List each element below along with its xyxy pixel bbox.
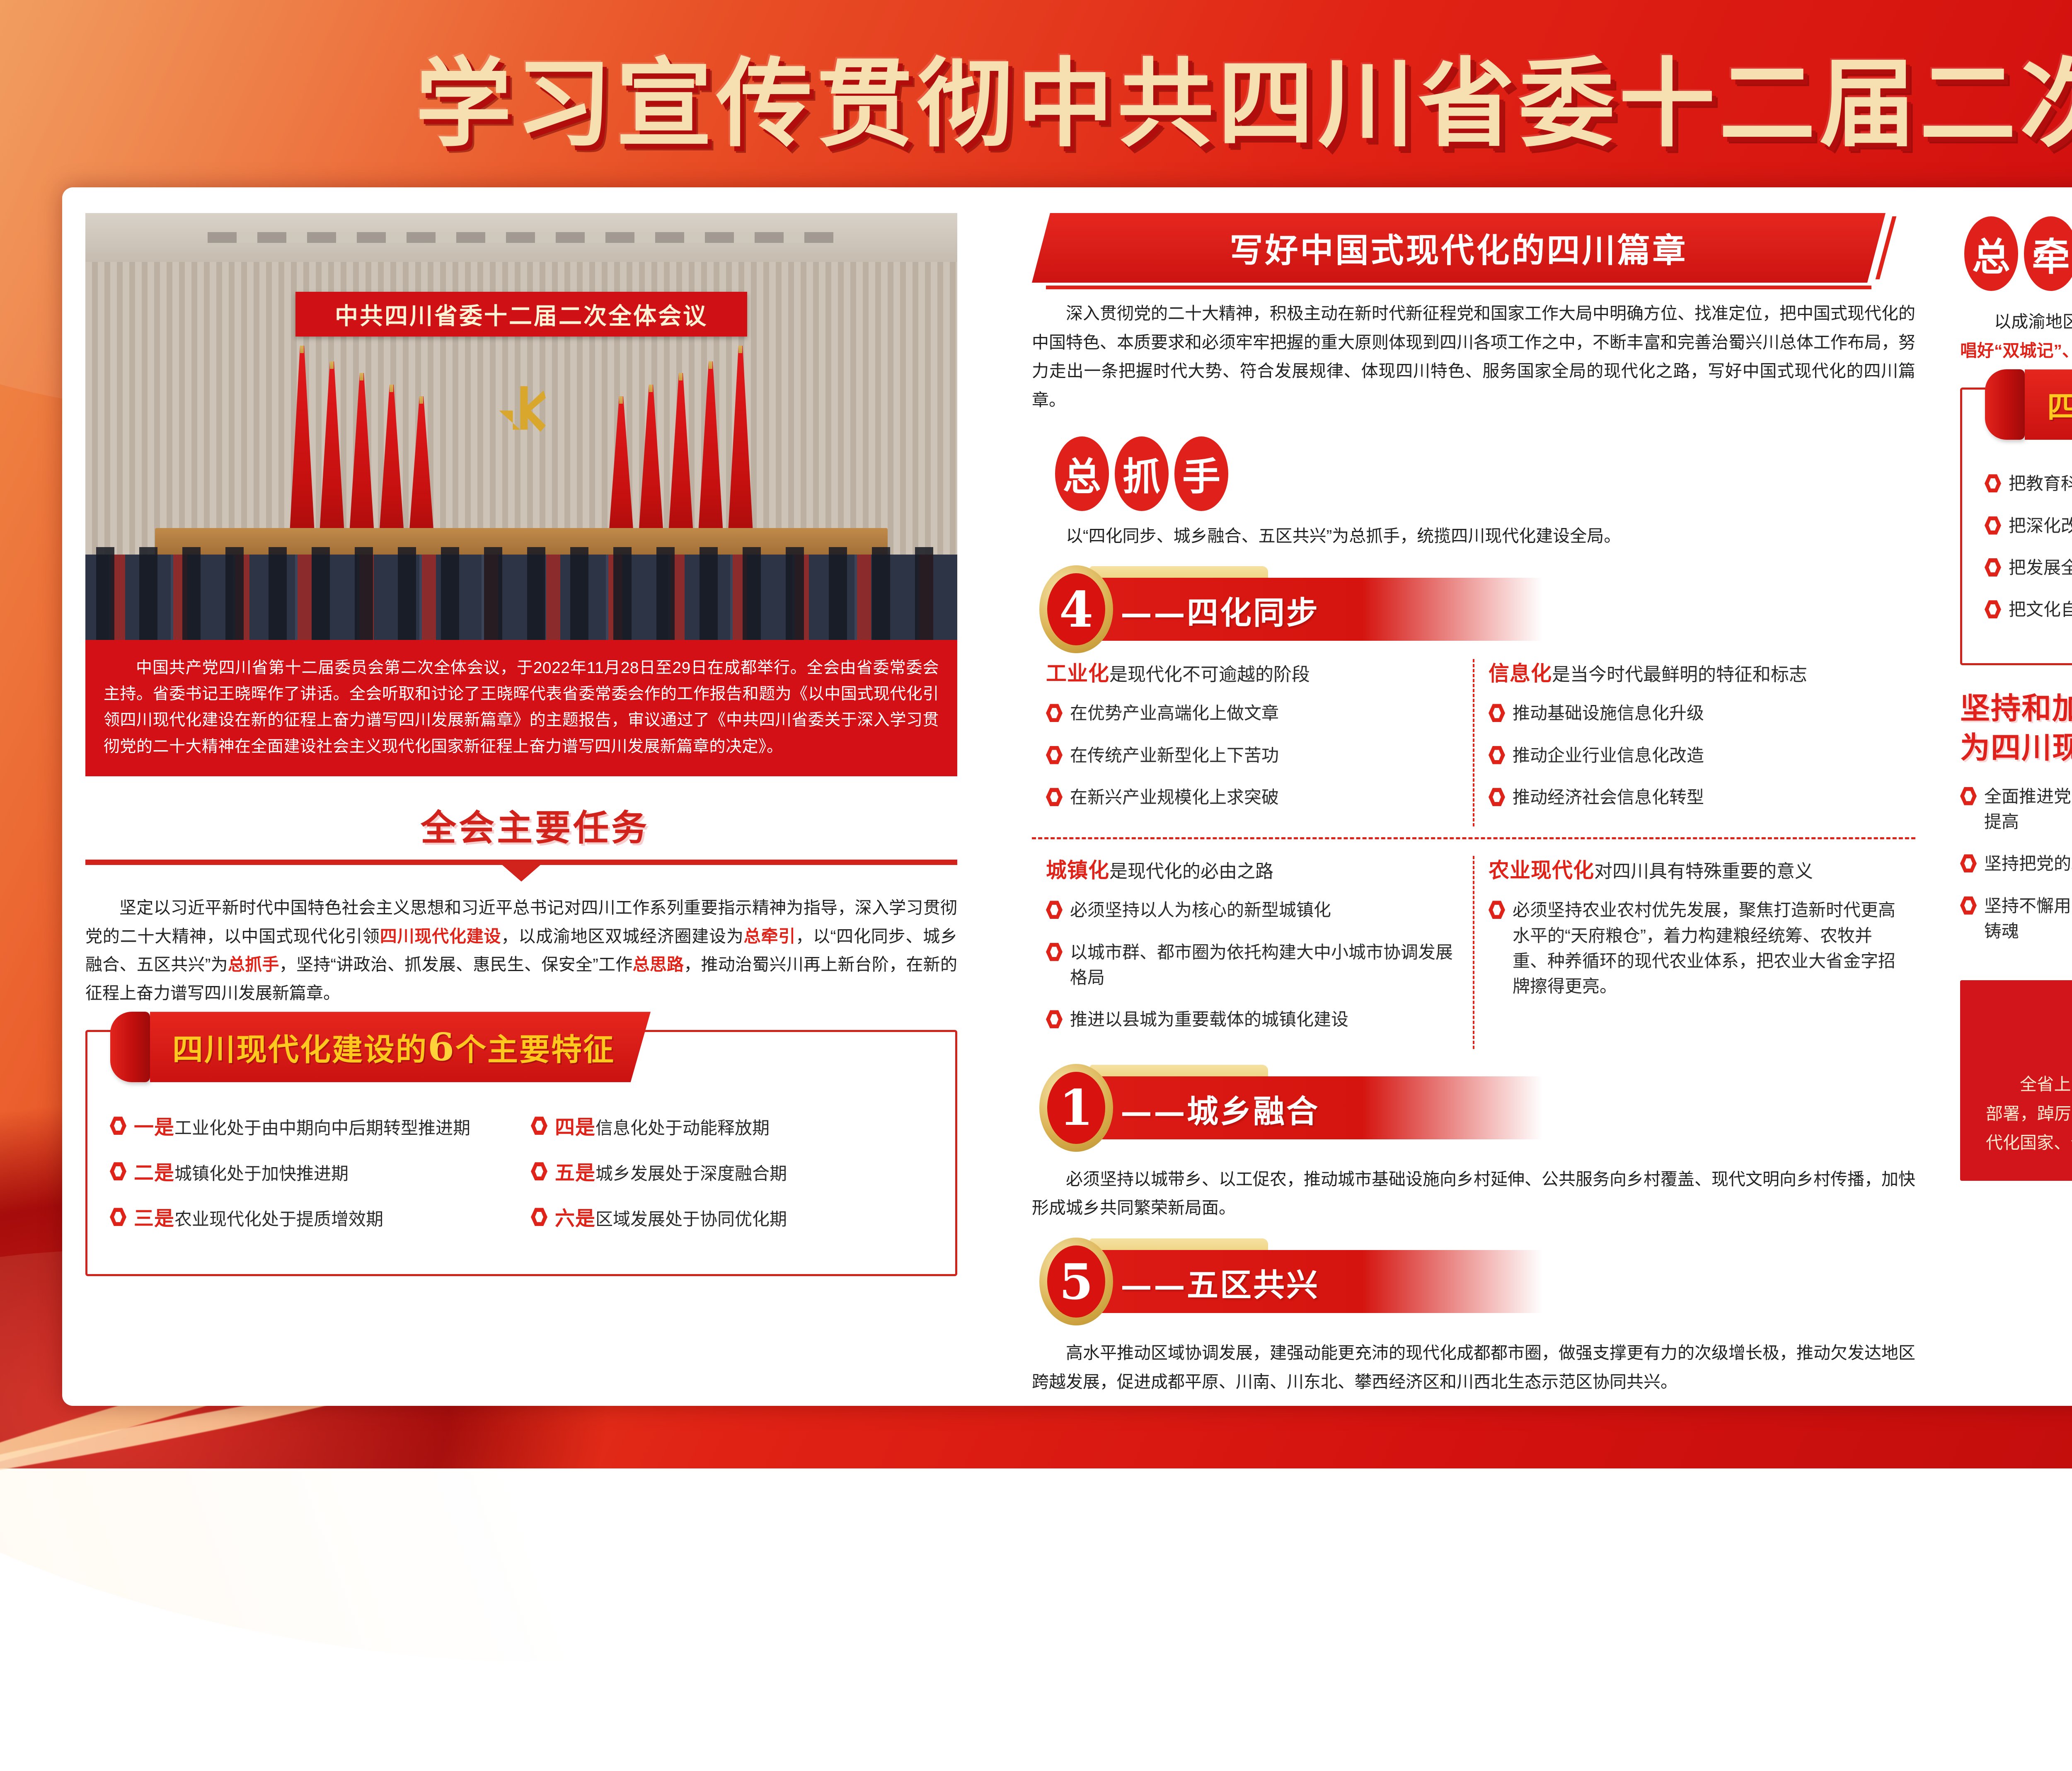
- highlight-text: 总牵引: [744, 927, 796, 946]
- chapter-heading-text: 写好中国式现代化的四川篇章: [1230, 224, 1688, 272]
- list-item-label: 在新兴产业规模化上求突破: [1070, 785, 1279, 810]
- list-item: 把深化改革扩大开放作为根本动力: [1985, 513, 2072, 538]
- quad-divider: [1032, 837, 1915, 839]
- highlight-text: 总抓手: [228, 955, 279, 974]
- photo-stage-banner-text: 中共四川省委十二届二次全体会议: [335, 298, 708, 331]
- call-text: 全省上下要更加紧密地团结在以习近平同志为核心的党中央周围，全面贯彻落实党的二十大…: [1986, 1070, 2072, 1158]
- informatization-term: 信息化: [1489, 662, 1552, 685]
- hexagon-bullet-icon: [1046, 704, 1063, 722]
- list-item: 在优势产业高端化上做文章: [1046, 700, 1459, 726]
- zongqianyin-paragraph: 以成渝地区双城经济圈建设作为四川现代化建设的总牵引，加强与重庆方面全方位协作，在…: [1960, 308, 2072, 365]
- oval-char: 牵: [2032, 226, 2070, 281]
- industrialization-desc: 是现代化不可逾越的阶段: [1109, 664, 1310, 685]
- hexagon-bullet-icon: [531, 1117, 547, 1135]
- four-modernizations-grid-2: 城镇化是现代化的必由之路 必须坚持以人为核心的新型城镇化以城市群、都市圈为依托构…: [1032, 856, 1915, 1049]
- list-item: 二是城镇化处于加快推进期: [110, 1159, 512, 1188]
- list-item: 全面推进党的自我净化、自我完善、自我革新、自我提高: [1960, 784, 2072, 835]
- list-item-label: 二是城镇化处于加快推进期: [134, 1159, 349, 1188]
- oval-char: 抓: [1123, 446, 1161, 501]
- oval-char-badge: 总: [1055, 436, 1109, 511]
- hexagon-bullet-icon: [110, 1208, 126, 1226]
- list-item-lead: 三是: [134, 1208, 174, 1230]
- plain-text: 以成渝地区双城经济圈建设作为四川现代化建设的总牵引，: [1994, 312, 2072, 331]
- hexagon-bullet-icon: [1489, 704, 1505, 722]
- list-item-label: 把深化改革扩大开放作为根本动力: [2009, 513, 2072, 538]
- four-modernizations-grid: 工业化是现代化不可逾越的阶段 在优势产业高端化上做文章在传统产业新型化上下苦功在…: [1032, 659, 1915, 826]
- tasks-section-header: 全会主要任务: [85, 799, 985, 850]
- list-item-label: 把教育科技人才作为战略先导: [2009, 471, 2072, 496]
- hexagon-bullet-icon: [1046, 746, 1063, 764]
- list-item: 以城市群、都市圈为依托构建大中小城市协调发展格局: [1046, 940, 1459, 991]
- list-item-lead: 二是: [134, 1162, 174, 1184]
- features-list-right: 四是信息化处于动能释放期五是城乡发展处于深度融合期六是区域发展处于协同优化期: [531, 1113, 933, 1250]
- list-item-label: 把文化自信自强作为持久精神力量: [2009, 597, 2072, 622]
- informatization-desc: 是当今时代最鲜明的特征和标志: [1552, 664, 1807, 685]
- urbanization-desc: 是现代化的必由之路: [1109, 861, 1273, 882]
- list-item: 推动经济社会信息化转型: [1489, 785, 1901, 810]
- industrialization-term: 工业化: [1046, 662, 1109, 685]
- list-item: 推动基础设施信息化升级: [1489, 700, 1901, 726]
- oval-char: 总: [1063, 446, 1101, 501]
- list-item: 必须坚持农业农村优先发展，聚焦打造新时代更高水平的“天府粮仓”，着力构建粮经统筹…: [1489, 897, 1901, 999]
- list-item: 坚持不懈用习近平新时代中国特色社会主义思想凝心铸魂: [1960, 893, 2072, 944]
- informatization-list: 推动基础设施信息化升级推动企业行业信息化改造推动经济社会信息化转型: [1489, 700, 1901, 810]
- list-item-label: 推动经济社会信息化转型: [1513, 785, 1704, 810]
- zongzhuashou-paragraph: 以“四化同步、城乡融合、五区共兴”为总抓手，统揽四川现代化建设全局。: [1032, 522, 1915, 551]
- hexagon-bullet-icon: [1985, 558, 2001, 577]
- list-item-label: 五是城乡发展处于深度融合期: [555, 1159, 787, 1188]
- oval-char-badge: 手: [1174, 436, 1228, 511]
- hexagon-bullet-icon: [1960, 787, 1977, 805]
- hexagon-bullet-icon: [1046, 901, 1063, 919]
- badge-label-4: ——四化同步: [1121, 588, 1319, 632]
- column-right: 总牵引 以成渝地区双城经济圈建设作为四川现代化建设的总牵引，加强与重庆方面全方位…: [1938, 213, 2072, 1389]
- list-item-label: 全面推进党的自我净化、自我完善、自我革新、自我提高: [1984, 784, 2072, 835]
- list-item-label: 坚持不懈用习近平新时代中国特色社会主义思想凝心铸魂: [1984, 893, 2072, 944]
- photo-caption: 中国共产党四川省第十二届委员会第二次全体会议，于2022年11月28日至29日在…: [85, 640, 957, 776]
- list-item-lead: 四是: [555, 1117, 595, 1139]
- chapter-heading: 写好中国式现代化的四川篇章: [1032, 213, 1886, 283]
- key-tasks-heading: 四川现代化建设的7项重点任务: [1985, 369, 2072, 440]
- hexagon-bullet-icon: [1985, 474, 2001, 492]
- party-leadership-title-line1: 坚持和加强党的全面领导: [1960, 688, 2072, 728]
- hexagon-bullet-icon: [531, 1208, 547, 1226]
- badge-heading-4: 4 ——四化同步: [1032, 569, 1915, 650]
- features-box-heading: 四川现代化建设的6个主要特征: [110, 1012, 651, 1082]
- hexagon-bullet-icon: [1046, 788, 1063, 806]
- badge-5-paragraph: 高水平推动区域协调发展，建强动能更充沛的现代化成都都市圈，做强支撑更有力的次级增…: [1032, 1339, 1915, 1396]
- list-item-label: 推动基础设施信息化升级: [1513, 700, 1704, 726]
- badge-number-1: 1: [1047, 1072, 1105, 1144]
- quad-col-urbanization: 城镇化是现代化的必由之路 必须坚持以人为核心的新型城镇化以城市群、都市圈为依托构…: [1032, 856, 1474, 1049]
- list-item-label: 必须坚持以人为核心的新型城镇化: [1070, 897, 1331, 923]
- list-item-label: 在传统产业新型化上下苦功: [1070, 743, 1279, 768]
- column-middle: 写好中国式现代化的四川篇章 深入贯彻党的二十大精神，积极主动在新时代新征程党和国…: [1009, 213, 1938, 1389]
- zongqianyin-heading: 总牵引: [1964, 216, 2072, 291]
- badge-1-paragraph: 必须坚持以城带乡、以工促农，推动城市基础设施向乡村延伸、公共服务向乡村覆盖、现代…: [1032, 1165, 1915, 1223]
- page-title: 学习宣传贯彻中共四川省委十二届二次全会精神: [415, 26, 2072, 165]
- list-item: 四是信息化处于动能释放期: [531, 1113, 933, 1142]
- industrialization-list: 在优势产业高端化上做文章在传统产业新型化上下苦功在新兴产业规模化上求突破: [1046, 700, 1459, 810]
- oval-char: 总: [1972, 226, 2010, 281]
- key-tasks-list-left: 把教育科技人才作为战略先导把深化改革扩大开放作为根本动力把发展全过程人民民主作为…: [1985, 471, 2072, 639]
- oval-char-badge: 抓: [1115, 436, 1169, 511]
- hexagon-bullet-icon: [110, 1162, 126, 1180]
- quad-col-informatization: 信息化是当今时代最鲜明的特征和标志 推动基础设施信息化升级推动企业行业信息化改造…: [1474, 659, 1915, 826]
- list-item: 在传统产业新型化上下苦功: [1046, 743, 1459, 768]
- list-item: 推进以县城为重要载体的城镇化建设: [1046, 1007, 1459, 1032]
- hexagon-bullet-icon: [531, 1162, 547, 1180]
- list-item: 推动企业行业信息化改造: [1489, 743, 1901, 768]
- photo-ceiling: [85, 213, 957, 262]
- list-item-label: 把发展全过程人民民主作为重要保障: [2009, 555, 2072, 580]
- hexagon-bullet-icon: [1489, 746, 1505, 764]
- badge-label-1: ——城乡融合: [1121, 1086, 1319, 1131]
- hexagon-bullet-icon: [1960, 854, 1977, 872]
- photo-audience-heads: [85, 547, 957, 640]
- list-item-label: 六是区域发展处于协同优化期: [555, 1204, 787, 1233]
- list-item: 坚持把党的政治建设摆在首位: [1960, 851, 2072, 876]
- badge-number-5: 5: [1047, 1245, 1105, 1318]
- party-leadership-list-left: 全面推进党的自我净化、自我完善、自我革新、自我提高坚持把党的政治建设摆在首位坚持…: [1960, 784, 2072, 961]
- features-heading-suffix: 个主要特征: [455, 1025, 615, 1069]
- list-item: 在新兴产业规模化上求突破: [1046, 785, 1459, 810]
- features-heading-prefix: 四川现代化建设的: [172, 1025, 428, 1069]
- zongzhuashou-heading: 总抓手: [1055, 436, 1915, 511]
- hexagon-bullet-icon: [1046, 943, 1063, 961]
- hexagon-bullet-icon: [1985, 516, 2001, 535]
- tasks-paragraph: 坚定以习近平新时代中国特色社会主义思想和习近平总书记对四川工作系列重要指示精神为…: [85, 894, 957, 1008]
- agri-desc: 对四川具有特殊重要的意义: [1594, 861, 1813, 882]
- party-leadership-lists: 全面推进党的自我净化、自我完善、自我革新、自我提高坚持把党的政治建设摆在首位坚持…: [1960, 784, 2072, 961]
- hexagon-bullet-icon: [1489, 901, 1505, 919]
- content-card: 中共四川省委十二届二次全体会议: [62, 187, 2072, 1406]
- features-box: 四川现代化建设的6个主要特征 一是工业化处于由中期向中后期转型推进期二是城镇化处…: [85, 1030, 957, 1276]
- badge-heading-5: 5 ——五区共兴: [1032, 1241, 1915, 1322]
- hexagon-bullet-icon: [1985, 600, 2001, 618]
- list-item-label: 四是信息化处于动能释放期: [555, 1113, 770, 1142]
- hexagon-bullet-icon: [110, 1117, 126, 1135]
- list-item-label: 坚持把党的政治建设摆在首位: [1984, 851, 2072, 876]
- urbanization-list: 必须坚持以人为核心的新型城镇化以城市群、都市圈为依托构建大中小城市协调发展格局推…: [1046, 897, 1459, 1032]
- list-item: 三是农业现代化处于提质增效期: [110, 1204, 512, 1233]
- badge-heading-1: 1 ——城乡融合: [1032, 1067, 1915, 1148]
- list-item-label: 必须坚持农业农村优先发展，聚焦打造新时代更高水平的“天府粮仓”，着力构建粮经统筹…: [1513, 897, 1901, 999]
- badge-number-4: 4: [1047, 573, 1105, 645]
- hexagon-bullet-icon: [1046, 1010, 1063, 1028]
- list-item: 六是区域发展处于协同优化期: [531, 1204, 933, 1233]
- badge-label-5: ——五区共兴: [1121, 1260, 1319, 1305]
- list-item-lead: 五是: [555, 1162, 595, 1184]
- conference-photo: 中共四川省委十二届二次全体会议: [85, 213, 957, 640]
- list-item-label: 在优势产业高端化上做文章: [1070, 700, 1279, 726]
- features-heading-number: 6: [428, 1025, 455, 1069]
- list-item-label: 三是农业现代化处于提质增效期: [134, 1204, 383, 1233]
- title-divider: [85, 860, 957, 879]
- features-list-left: 一是工业化处于由中期向中后期转型推进期二是城镇化处于加快推进期三是农业现代化处于…: [110, 1113, 512, 1250]
- plain-text: ，以成渝地区双城经济圈建设为: [501, 927, 743, 946]
- poster-header: 学习宣传贯彻中共四川省委十二届二次全会精神: [0, 0, 2072, 191]
- highlight-text: 四川现代化建设: [380, 927, 501, 946]
- list-item: 把文化自信自强作为持久精神力量: [1985, 597, 2072, 622]
- key-tasks-heading-prefix: 四川现代化建设的: [2047, 383, 2072, 427]
- column-left: 中共四川省委十二届二次全体会议: [85, 213, 1009, 1389]
- hexagon-bullet-icon: [1489, 788, 1505, 806]
- oval-char-badge: 总: [1964, 216, 2018, 291]
- list-item: 把发展全过程人民民主作为重要保障: [1985, 555, 2072, 580]
- call-to-action-box: 全会号召 全省上下要更加紧密地团结在以习近平同志为核心的党中央周围，全面贯彻落实…: [1960, 980, 2072, 1181]
- photo-stage-banner: 中共四川省委十二届二次全体会议: [295, 292, 747, 337]
- quad-col-industrialization: 工业化是现代化不可逾越的阶段 在优势产业高端化上做文章在传统产业新型化上下苦功在…: [1032, 659, 1474, 826]
- list-item-label: 一是工业化处于由中期向中后期转型推进期: [134, 1113, 470, 1142]
- highlight-text: 总思路: [633, 955, 684, 974]
- chapter-paragraph: 深入贯彻党的二十大精神，积极主动在新时代新征程党和国家工作大局中明确方位、找准定…: [1032, 299, 1915, 415]
- urbanization-term: 城镇化: [1046, 859, 1109, 882]
- scroll-curl-icon: [1985, 369, 2025, 440]
- list-item: 必须坚持以人为核心的新型城镇化: [1046, 897, 1459, 923]
- party-leadership-title-line2: 为四川现代化建设提供坚强保证: [1960, 728, 2072, 767]
- key-tasks-box: 四川现代化建设的7项重点任务 把教育科技人才作为战略先导把深化改革扩大开放作为根…: [1960, 388, 2072, 665]
- tasks-section-title: 全会主要任务: [421, 799, 649, 850]
- scroll-curl-icon: [110, 1012, 150, 1082]
- oval-char: 手: [1182, 446, 1220, 501]
- list-item: 把教育科技人才作为战略先导: [1985, 471, 2072, 496]
- plain-text: ，坚持“讲政治、抓发展、惠民生、保安全”工作: [279, 955, 633, 974]
- quad-col-agri: 农业现代化对四川具有特殊重要的意义 必须坚持农业农村优先发展，聚焦打造新时代更高…: [1474, 856, 1915, 1049]
- oval-char-badge: 牵: [2024, 216, 2072, 291]
- list-item-lead: 六是: [555, 1208, 595, 1230]
- party-leadership-title: 坚持和加强党的全面领导 为四川现代化建设提供坚强保证: [1960, 688, 2072, 767]
- list-item-label: 推进以县城为重要载体的城镇化建设: [1070, 1007, 1348, 1032]
- list-item: 一是工业化处于由中期向中后期转型推进期: [110, 1113, 512, 1142]
- list-item-label: 推动企业行业信息化改造: [1513, 743, 1704, 768]
- hexagon-bullet-icon: [1960, 896, 1977, 915]
- agri-list: 必须坚持农业农村优先发展，聚焦打造新时代更高水平的“天府粮仓”，着力构建粮经统筹…: [1489, 897, 1901, 999]
- photo-flags: [273, 346, 770, 540]
- list-item-label: 以城市群、都市圈为依托构建大中小城市协调发展格局: [1070, 940, 1459, 991]
- list-item-lead: 一是: [134, 1117, 174, 1139]
- list-item: 五是城乡发展处于深度融合期: [531, 1159, 933, 1188]
- agri-term: 农业现代化: [1489, 859, 1594, 882]
